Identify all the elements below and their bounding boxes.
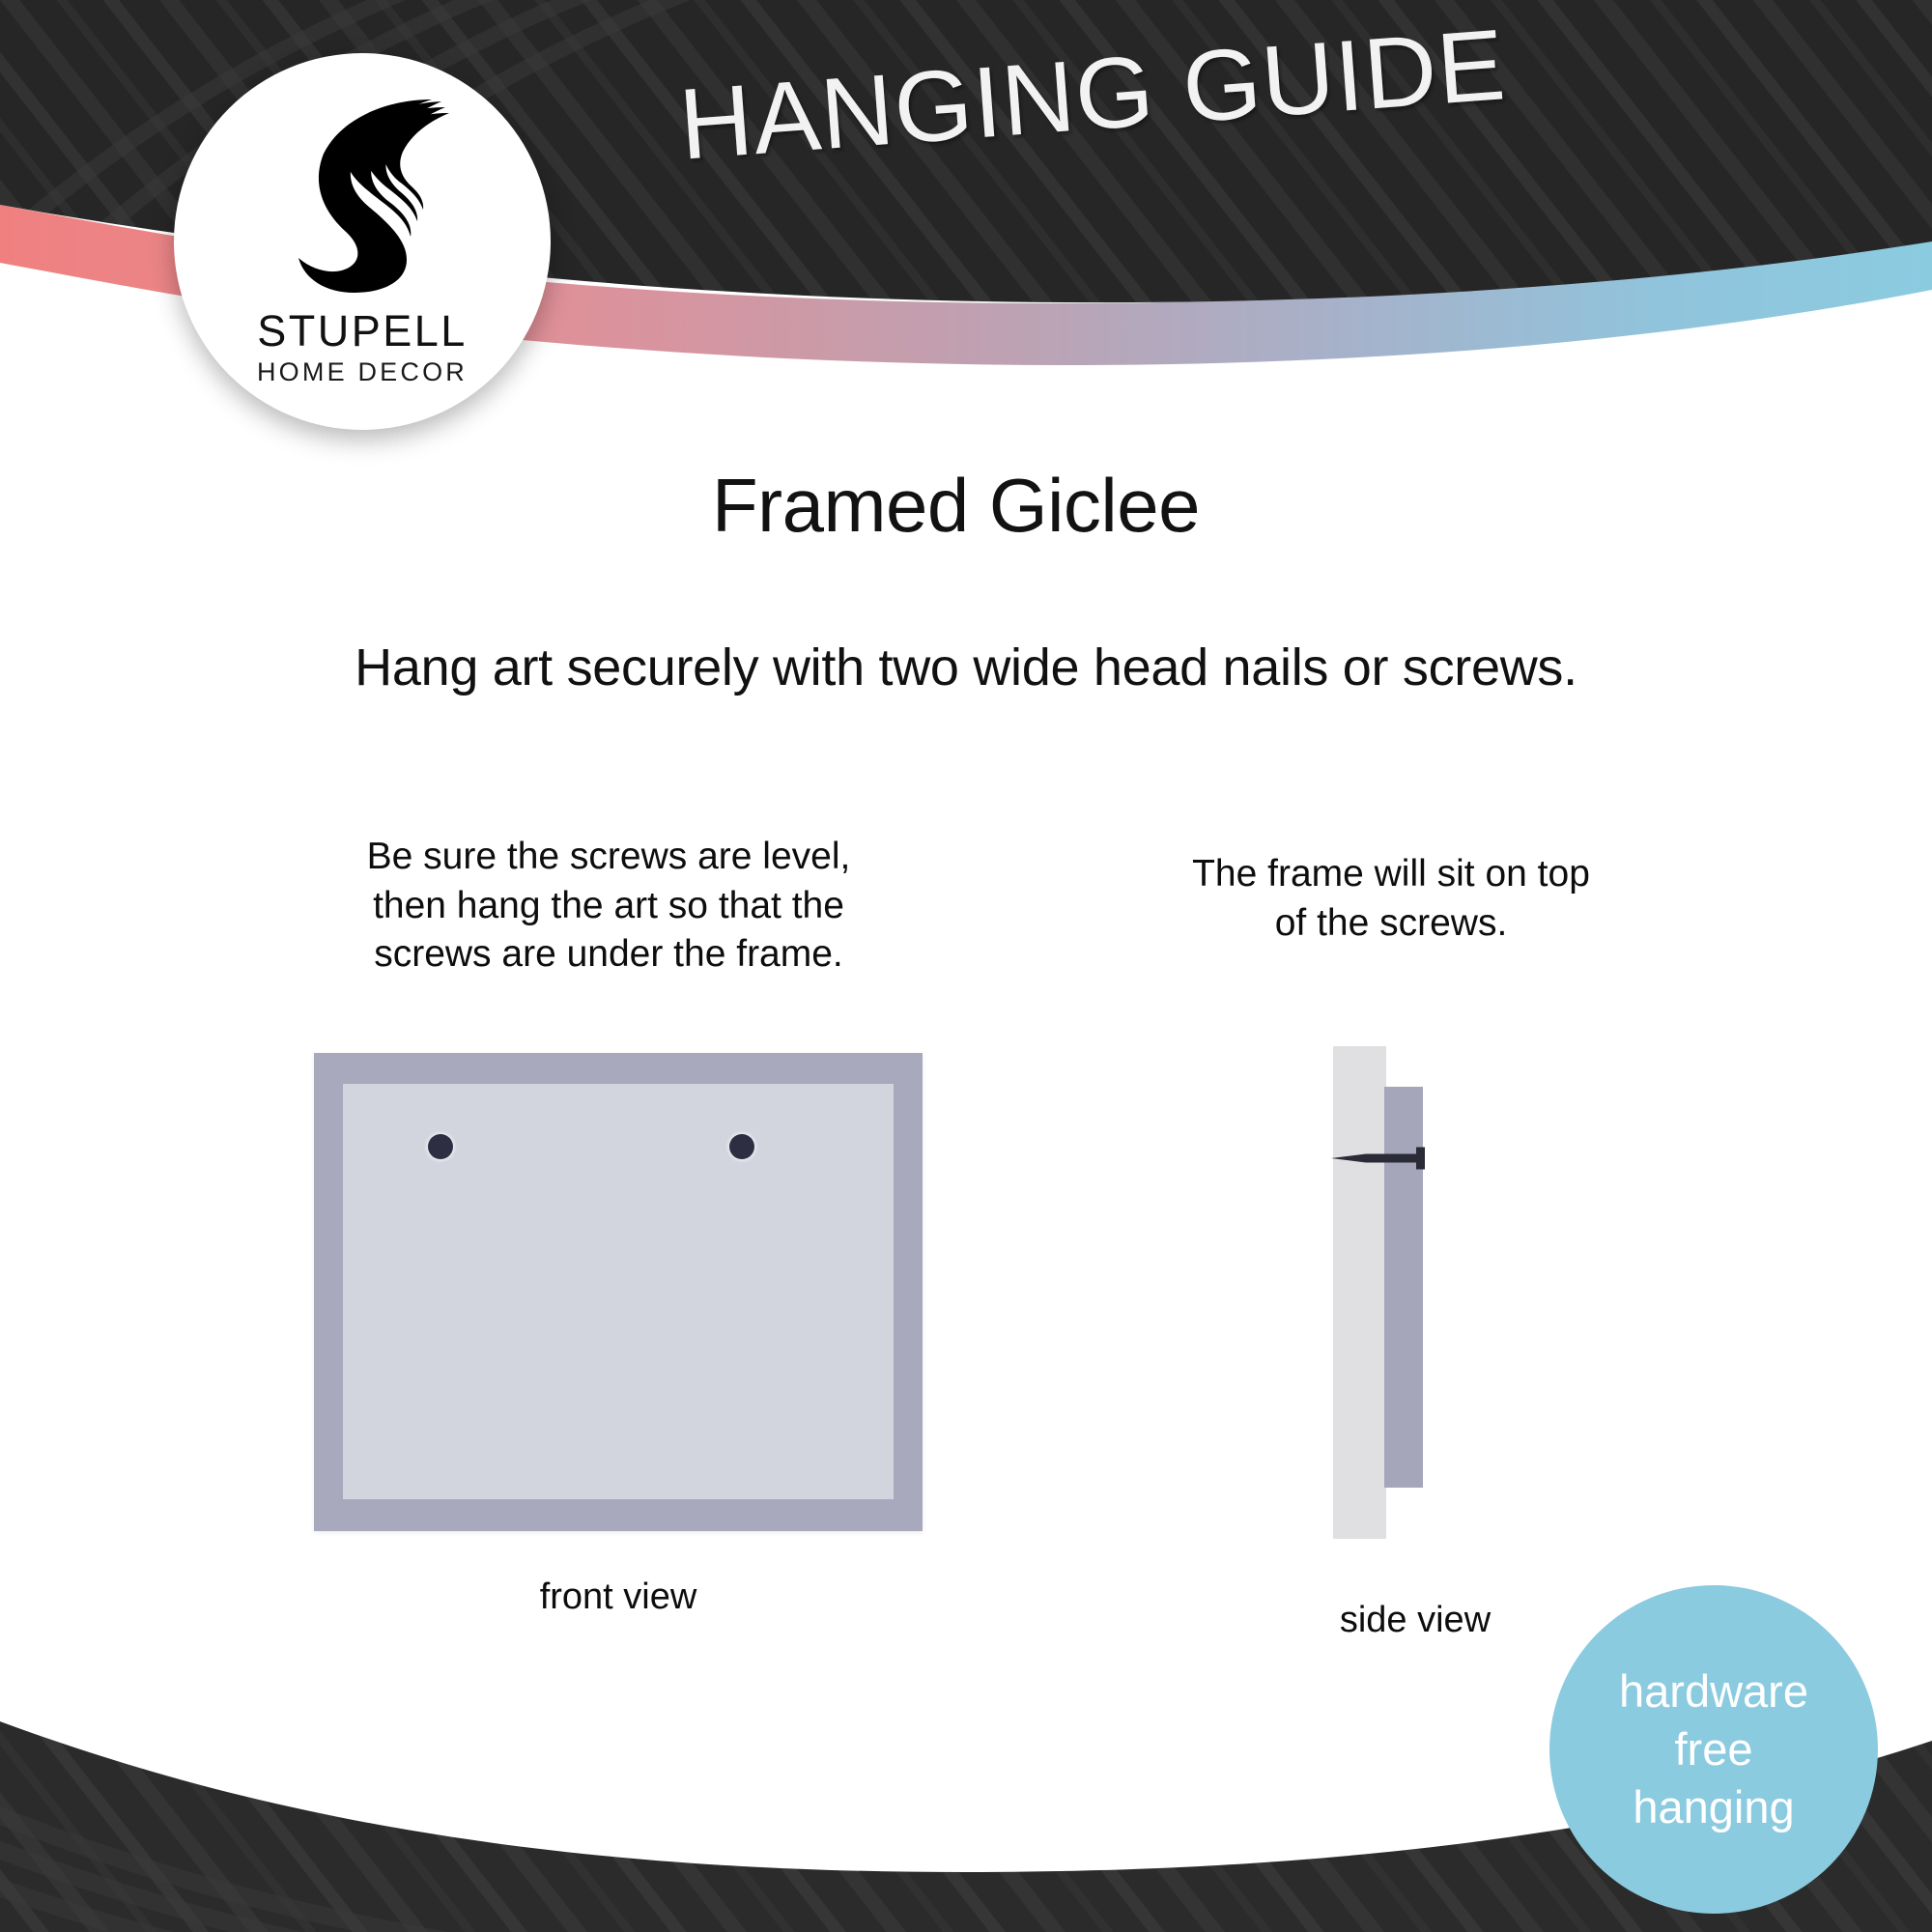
front-caption-line-1: Be sure the screws are level, bbox=[290, 833, 927, 882]
front-view-label: front view bbox=[314, 1577, 923, 1618]
side-view-diagram bbox=[1333, 1046, 1488, 1573]
logo-badge: STUPELL HOME DECOR bbox=[174, 53, 551, 430]
logo-tagline-text: HOME DECOR bbox=[174, 357, 551, 387]
badge-line-1: hardware bbox=[1619, 1662, 1808, 1720]
badge-line-2: free bbox=[1675, 1720, 1753, 1778]
side-caption-line-2: of the screws. bbox=[1130, 899, 1652, 949]
logo-brand-text: STUPELL bbox=[174, 306, 551, 356]
product-type-label: Framed Giclee bbox=[712, 462, 1200, 550]
wall-cross-section bbox=[1333, 1046, 1386, 1539]
hanging-guide-page: HANGING GUIDE STUPELL HOME DECOR Framed … bbox=[0, 0, 1932, 1932]
side-view-caption: The frame will sit on top of the screws. bbox=[1130, 850, 1652, 948]
stupell-swan-s-icon bbox=[266, 94, 459, 297]
primary-instruction: Hang art securely with two wide head nai… bbox=[0, 638, 1932, 697]
side-view-panel: The frame will sit on top of the screws. bbox=[1130, 850, 1652, 948]
front-view-mat bbox=[343, 1084, 894, 1499]
nail-icon bbox=[1329, 1146, 1437, 1171]
front-view-diagram bbox=[314, 1053, 923, 1531]
side-caption-line-1: The frame will sit on top bbox=[1130, 850, 1652, 899]
front-view-caption: Be sure the screws are level, then hang … bbox=[290, 833, 927, 980]
screw-dot-right bbox=[729, 1134, 754, 1159]
front-caption-line-3: screws are under the frame. bbox=[290, 930, 927, 980]
front-view-panel: Be sure the screws are level, then hang … bbox=[290, 833, 927, 980]
screw-dot-left bbox=[428, 1134, 453, 1159]
badge-line-3: hanging bbox=[1633, 1778, 1794, 1836]
hardware-free-badge: hardware free hanging bbox=[1549, 1585, 1878, 1914]
front-caption-line-2: then hang the art so that the bbox=[290, 882, 927, 931]
